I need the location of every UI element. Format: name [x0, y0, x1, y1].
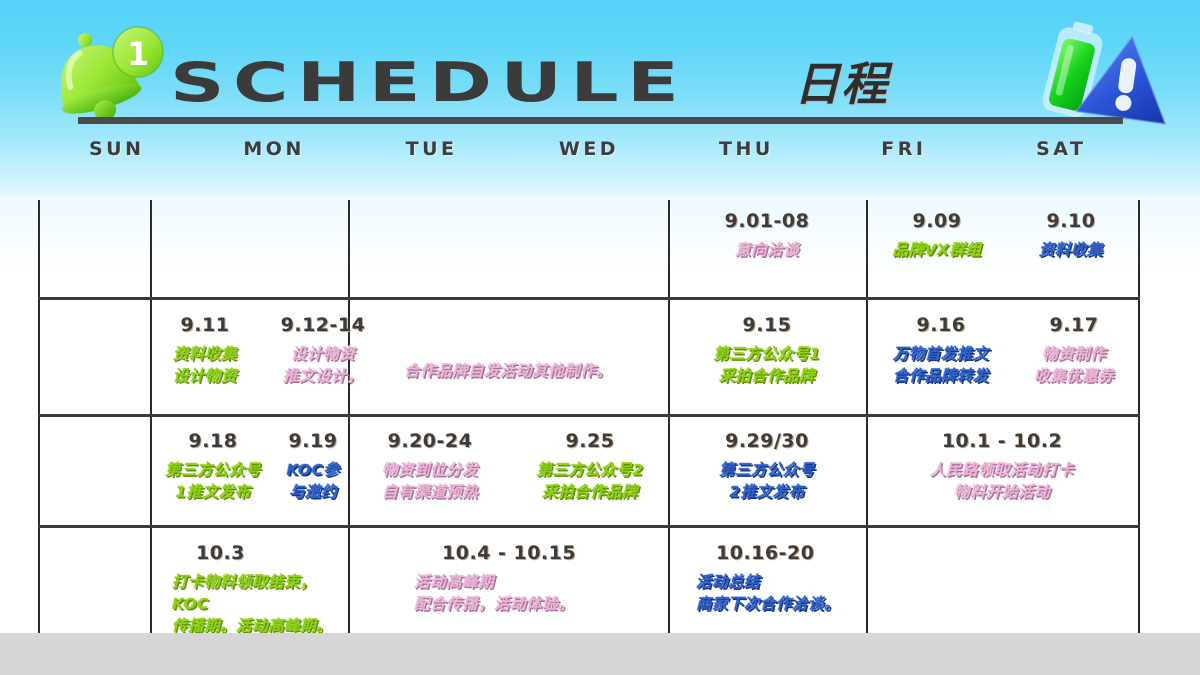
battery-warning-icon [1020, 18, 1170, 128]
cell-9-29-30[interactable]: 9.29/30 第三方公众号 2推文发布 [668, 420, 866, 503]
cell-10-1-10-2[interactable]: 10.1 - 10.2 人民路领取活动打卡 物料开始活动 [866, 420, 1138, 503]
page-title: SCHEDULE 日程 [170, 48, 888, 110]
page-title-chinese: 日程 [794, 61, 888, 107]
cell-note: 品牌VX群组 [893, 239, 982, 261]
cell-note: 物资制作 收集优惠券 [1034, 343, 1114, 387]
weekday-mon: MON [195, 138, 352, 172]
cell-date: 10.3 [196, 542, 245, 564]
cell-note: 万物首发推文 合作品牌转发 [893, 343, 989, 387]
cell-date: 9.01-08 [725, 210, 810, 232]
cell-9-09[interactable]: 9.09 品牌VX群组 [866, 200, 1008, 261]
cell-date: 10.1 - 10.2 [942, 430, 1062, 452]
cell-10-16-20[interactable]: 10.16-20 活动总结 商家下次合作洽谈。 [668, 532, 898, 615]
cell-10-4-10-15[interactable]: 10.4 - 10.15 活动高峰期 配合传播，活动体验。 [386, 532, 668, 615]
cell-9-11[interactable]: 9.11 资料收集 设计物资 [150, 304, 260, 387]
cell-9-25[interactable]: 9.25 第三方公众号2 采拍合作品牌 [512, 420, 668, 503]
cell-9-19[interactable]: 9.19 KOC参 与邀约 [276, 420, 350, 503]
cell-date: 9.18 [189, 430, 238, 452]
cell-date: 9.29/30 [725, 430, 809, 452]
grid-hline-3 [38, 525, 1140, 528]
bell-notification-icon: 1 [34, 20, 164, 125]
cell-9-18[interactable]: 9.18 第三方公众号 1推文发布 [150, 420, 276, 503]
cell-note: 资料收集 [1039, 239, 1103, 261]
cell-date: 9.10 [1047, 210, 1096, 232]
cell-note: 物资到位分发 自有渠道预热 [382, 459, 478, 503]
cell-note: 第三方公众号2 采拍合作品牌 [536, 459, 643, 503]
grid-hline-2 [38, 414, 1140, 417]
cell-note: 第三方公众号1 采拍合作品牌 [713, 343, 820, 387]
weekday-sun: SUN [38, 138, 195, 172]
schedule-grid: 9.01-08 意向洽谈 9.09 品牌VX群组 9.10 资料收集 9.11 … [38, 200, 1140, 633]
weekday-header-row: SUN MON TUE WED THU FRI SAT [38, 138, 1140, 172]
weekday-fri: FRI [825, 138, 982, 172]
cell-note: 第三方公众号 2推文发布 [719, 459, 815, 503]
cell-9-16[interactable]: 9.16 万物首发推文 合作品牌转发 [866, 304, 1016, 387]
weekday-thu: THU [668, 138, 825, 172]
cell-date: 9.09 [913, 210, 962, 232]
cell-note: 人民路领取活动打卡 物料开始活动 [930, 459, 1074, 503]
cell-date: 10.16-20 [716, 542, 814, 564]
cell-note: 打卡物料领取结束，KOC 传播期。活动高峰期。 [172, 571, 348, 637]
cell-9-17[interactable]: 9.17 物资制作 收集优惠券 [1010, 304, 1138, 387]
cell-10-3[interactable]: 10.3 打卡物料领取结束，KOC 传播期。活动高峰期。 [150, 532, 348, 637]
cell-span-note[interactable]: 合作品牌自发活动其他制作。 [348, 304, 668, 389]
grid-hline-1 [38, 297, 1140, 300]
cell-date: 10.4 - 10.15 [442, 542, 576, 564]
cell-note: 第三方公众号 1推文发布 [165, 459, 261, 503]
cell-note: 活动高峰期 配合传播，活动体验。 [414, 571, 574, 615]
cell-note: KOC参 与邀约 [286, 459, 339, 503]
cell-date: 9.19 [289, 430, 338, 452]
weekday-wed: WED [510, 138, 667, 172]
footer-bar [0, 633, 1200, 675]
cell-note: 活动总结 商家下次合作洽谈。 [696, 571, 840, 615]
bell-badge-count: 1 [127, 35, 149, 73]
page-title-english: SCHEDULE [170, 55, 687, 110]
cell-date: 9.17 [1050, 314, 1099, 336]
cell-date: 9.11 [181, 314, 230, 336]
weekday-sat: SAT [983, 138, 1140, 172]
cell-note: 合作品牌自发活动其他制作。 [404, 360, 612, 382]
cell-note: 意向洽谈 [735, 239, 799, 261]
slide-canvas: 1 SCHEDU [0, 0, 1200, 675]
cell-9-20-24[interactable]: 9.20-24 物资到位分发 自有渠道预热 [348, 420, 512, 503]
cell-date: 9.25 [566, 430, 615, 452]
cell-date: 9.15 [743, 314, 792, 336]
cell-date: 9.20-24 [388, 430, 473, 452]
cell-date: 9.16 [917, 314, 966, 336]
cell-9-01-08[interactable]: 9.01-08 意向洽谈 [668, 200, 866, 261]
title-underline [78, 117, 1123, 124]
cell-note: 资料收集 设计物资 [173, 343, 237, 387]
cell-9-10[interactable]: 9.10 资料收集 [1004, 200, 1138, 261]
cell-9-15[interactable]: 9.15 第三方公众号1 采拍合作品牌 [668, 304, 866, 387]
weekday-tue: TUE [353, 138, 510, 172]
